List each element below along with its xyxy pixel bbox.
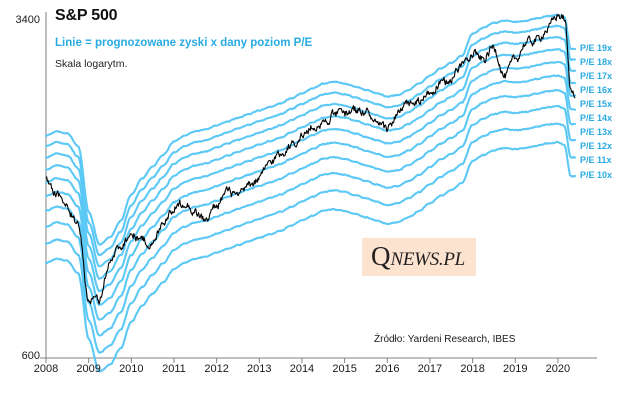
watermark-initial: Q [371,241,391,271]
x-tick-2013: 2013 [239,363,279,375]
x-tick-2018: 2018 [453,363,493,375]
pe-label-18x: P/E 18x [580,57,612,67]
pe-line-17x [46,37,575,266]
x-tick-2010: 2010 [111,363,151,375]
pe-label-12x: P/E 12x [580,141,612,151]
chart-subtitle: Linie = prognozowane zyski x dany poziom… [55,37,312,49]
chart-title: S&P 500 [55,7,117,25]
pe-label-16x: P/E 16x [580,85,612,95]
x-tick-2016: 2016 [367,363,407,375]
chart-source-note: Źródło: Yardeni Research, IBES [374,334,515,345]
pe-line-13x [46,90,575,320]
pe-label-19x: P/E 19x [580,43,612,53]
pe-label-14x: P/E 14x [580,113,612,123]
x-tick-2019: 2019 [495,363,535,375]
x-tick-2012: 2012 [197,363,237,375]
pe-line-15x [46,62,575,291]
x-tick-2017: 2017 [410,363,450,375]
chart-scale-note: Skala logarytm. [55,58,127,70]
pe-label-13x: P/E 13x [580,127,612,137]
x-tick-2009: 2009 [69,363,109,375]
pe-label-10x: P/E 10x [580,170,612,180]
x-tick-2015: 2015 [325,363,365,375]
x-tick-2008: 2008 [26,363,66,375]
x-tick-2014: 2014 [282,363,322,375]
chart-figure: 3400 600 S&P 500 Linie = prognozowane zy… [0,0,644,405]
y-axis-max-label: 3400 [2,14,40,26]
pe-label-17x: P/E 17x [580,71,612,81]
pe-label-15x: P/E 15x [580,99,612,109]
x-tick-2011: 2011 [154,363,194,375]
x-tick-2020: 2020 [538,363,578,375]
pe-label-11x: P/E 11x [580,155,612,165]
watermark-text: NEWS.PL [391,249,465,270]
y-axis-min-label: 600 [2,350,40,362]
qnews-watermark: QNEWS.PL [362,238,476,276]
